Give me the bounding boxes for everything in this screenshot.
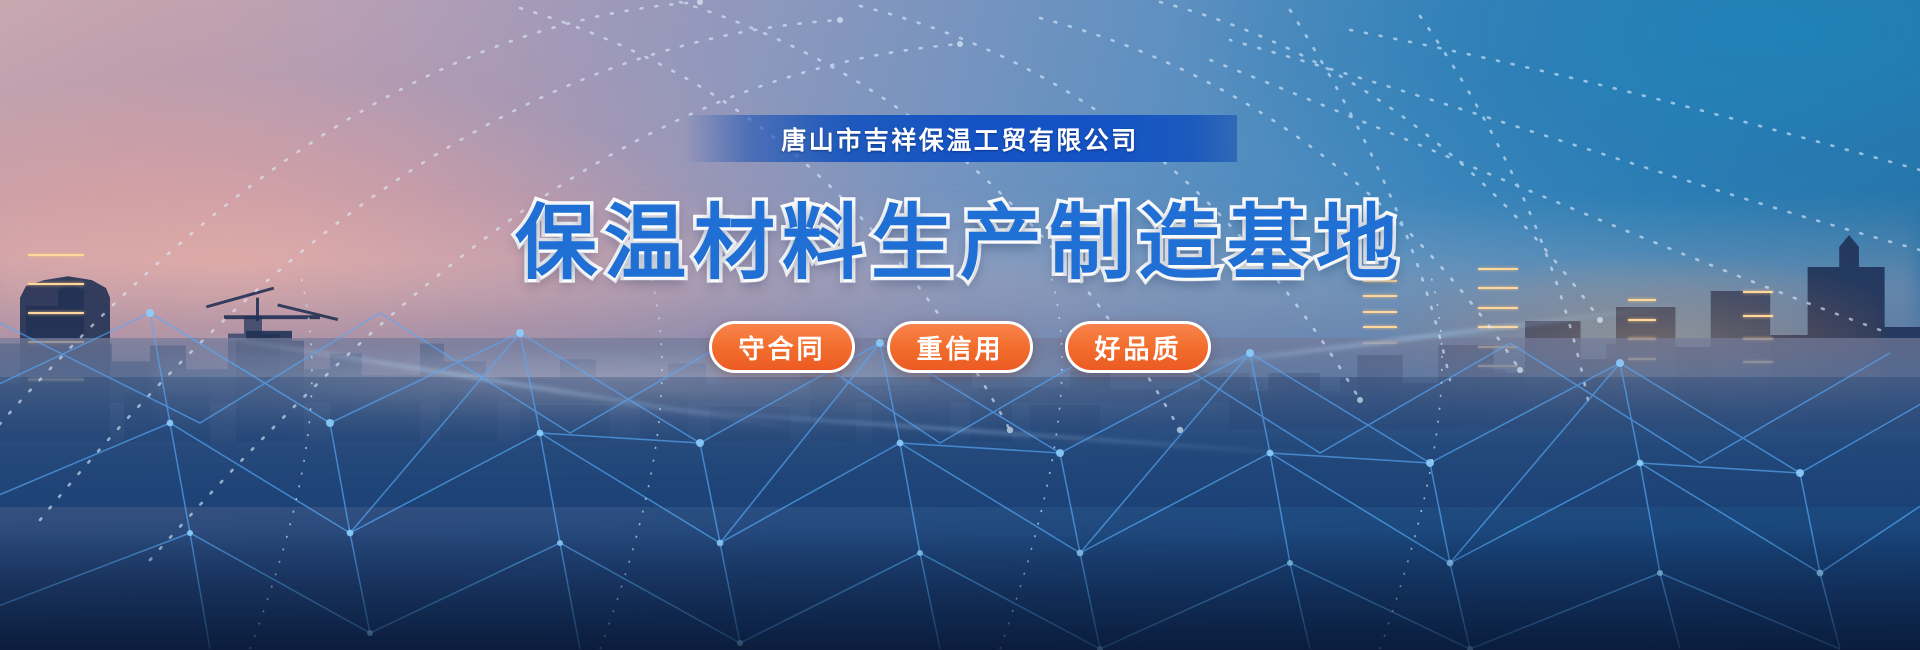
badge-label: 好品质 [1094,329,1181,366]
hero-banner: 唐山市吉祥保温工贸有限公司 保温材料生产制造基地 守合同 重信用 好品质 [0,0,1920,650]
badge-shou-he-tong[interactable]: 守合同 [709,321,855,373]
company-name-band: 唐山市吉祥保温工贸有限公司 [684,115,1237,162]
company-name: 唐山市吉祥保温工贸有限公司 [781,121,1139,157]
banner-content: 唐山市吉祥保温工贸有限公司 保温材料生产制造基地 守合同 重信用 好品质 [0,0,1920,650]
badge-list: 守合同 重信用 好品质 [709,321,1211,373]
badge-zhong-xin-yong[interactable]: 重信用 [887,321,1033,373]
headline-title: 保温材料生产制造基地 [515,176,1405,295]
badge-hao-pin-zhi[interactable]: 好品质 [1065,321,1211,373]
badge-label: 守合同 [738,329,825,366]
badge-label: 重信用 [916,329,1003,366]
